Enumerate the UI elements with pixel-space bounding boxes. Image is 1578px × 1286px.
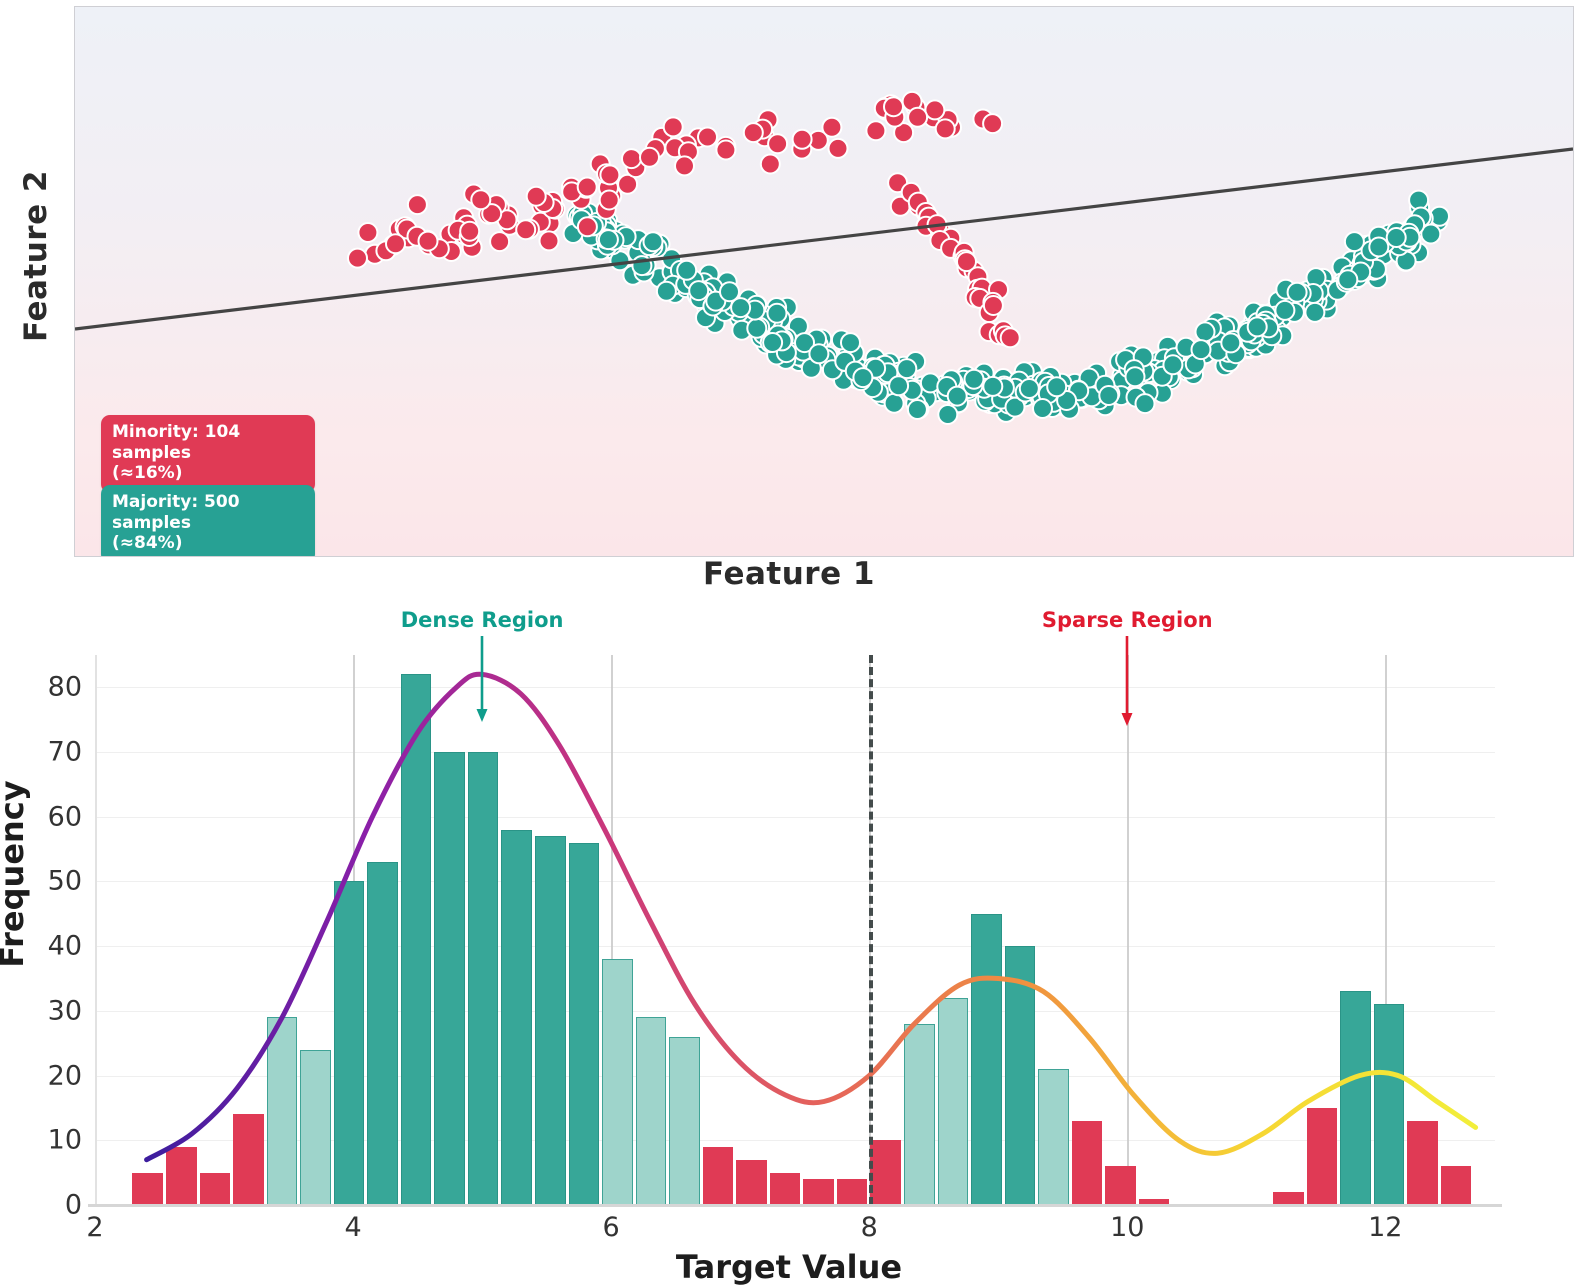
scatter-point (622, 149, 641, 168)
y-axis-tick-label: 60 (0, 801, 82, 832)
y-axis-tick-label: 10 (0, 1125, 82, 1156)
histogram-x-axis-label: Target Value (0, 1248, 1578, 1286)
scatter-point (1047, 377, 1066, 396)
histogram-panel: Frequency Target Value Dense RegionSpars… (0, 600, 1578, 1285)
y-axis-tick-label: 30 (0, 995, 82, 1026)
scatter-point (965, 370, 984, 389)
scatter-point (853, 368, 872, 387)
scatter-point (866, 121, 885, 140)
scatter-point (1387, 228, 1406, 247)
scatter-point (1033, 399, 1052, 418)
scatter-point (1126, 367, 1145, 386)
scatter-point (1136, 394, 1155, 413)
histogram-plot-area (95, 655, 1495, 1205)
scatter-point (348, 249, 367, 268)
y-axis-tick-label: 40 (0, 931, 82, 962)
scatter-point (936, 119, 955, 138)
scatter-point (761, 155, 780, 174)
scatter-point (1305, 303, 1324, 322)
scatter-point (948, 387, 967, 406)
kde-curve-layer (95, 655, 1495, 1205)
scatter-point (925, 100, 944, 119)
scatter-point (938, 405, 957, 424)
scatter-point (527, 187, 546, 206)
scatter-point (1221, 333, 1240, 352)
x-axis-tick-label: 10 (1110, 1212, 1144, 1243)
scatter-point (419, 232, 438, 251)
x-axis-tick-label: 2 (86, 1212, 103, 1243)
y-axis-tick-label: 0 (0, 1190, 82, 1221)
scatter-point (675, 156, 694, 175)
scatter-point (640, 148, 659, 167)
scatter-point (408, 195, 427, 214)
scatter-point (889, 376, 908, 395)
y-axis-tick-label: 50 (0, 866, 82, 897)
scatter-point (1163, 355, 1182, 374)
scatter-point (677, 261, 696, 280)
scatter-point (731, 298, 750, 317)
scatter-point (984, 296, 1003, 315)
scatter-point (1099, 386, 1118, 405)
x-axis-tick-label: 6 (603, 1212, 620, 1243)
x-axis-tick-label: 8 (861, 1212, 878, 1243)
y-axis-tick-label: 70 (0, 737, 82, 768)
scatter-point (664, 117, 683, 136)
scatter-point (809, 344, 828, 363)
scatter-point (1338, 270, 1357, 289)
scatter-point (884, 97, 903, 116)
scatter-point (578, 178, 597, 197)
scatter-point (599, 230, 618, 249)
scatter-point (1409, 191, 1428, 210)
scatter-point (1369, 238, 1388, 257)
scatter-point (600, 191, 619, 210)
scatter-point (768, 304, 787, 323)
scatter-point (1248, 317, 1267, 336)
scatter-y-axis-label: Feature 2 (18, 146, 54, 366)
scatter-point (885, 394, 904, 413)
scatter-point (540, 231, 559, 250)
kde-density-curve (147, 674, 1476, 1159)
x-axis-tick-label: 12 (1368, 1212, 1402, 1243)
legend-majority-badge: Majority: 500 samples (≈84%) (101, 485, 315, 557)
scatter-point (1020, 379, 1039, 398)
scatter-point (578, 217, 597, 236)
legend-minority-badge: Minority: 104 samples (≈16%) (101, 415, 315, 493)
scatter-point (1192, 340, 1211, 359)
scatter-point (747, 319, 766, 338)
scatter-point (983, 377, 1002, 396)
scatter-point (516, 220, 535, 239)
scatter-plot-area: Minority: 104 samples (≈16%) Majority: 5… (74, 6, 1574, 557)
scatter-point (763, 333, 782, 352)
histogram-axes: Frequency Target Value Dense RegionSpars… (0, 600, 1578, 1285)
threshold-line (869, 655, 873, 1205)
scatter-point (908, 400, 927, 419)
scatter-x-axis-label: Feature 1 (0, 556, 1578, 592)
scatter-point (716, 141, 735, 160)
annotation-sparse-region: Sparse Region (1042, 608, 1213, 632)
scatter-point (1275, 301, 1294, 320)
scatter-point (822, 118, 841, 137)
scatter-point (490, 232, 509, 251)
scatter-point (983, 114, 1002, 133)
scatter-point (386, 234, 405, 253)
arrow-sparse-icon (1112, 636, 1142, 726)
scatter-point (1288, 283, 1307, 302)
scatter-point (358, 223, 377, 242)
x-axis-spine (88, 1204, 1502, 1207)
scatter-point (829, 139, 848, 158)
scatter-point (744, 123, 763, 142)
scatter-point (793, 130, 812, 149)
scatter-point (908, 108, 927, 127)
scatter-point (600, 165, 619, 184)
x-axis-tick-label: 4 (344, 1212, 361, 1243)
scatter-point (460, 222, 479, 241)
scatter-point (471, 190, 490, 209)
scatter-point (841, 333, 860, 352)
scatter-point (1345, 232, 1364, 251)
scatter-point (897, 359, 916, 378)
scatter-point (768, 134, 787, 153)
scatter-point (698, 128, 717, 147)
scatter-point (689, 281, 708, 300)
y-axis-spine (95, 655, 97, 1205)
scatter-panel: Feature 2 Minority: 104 samples (≈16%) M… (0, 0, 1578, 600)
scatter-point (1196, 322, 1215, 341)
arrow-dense-icon (467, 636, 497, 722)
y-axis-tick-label: 20 (0, 1060, 82, 1091)
scatter-point (657, 282, 676, 301)
y-axis-tick-label: 80 (0, 672, 82, 703)
scatter-point (644, 232, 663, 251)
scatter-point (1001, 328, 1020, 347)
annotation-dense-region: Dense Region (401, 608, 564, 632)
